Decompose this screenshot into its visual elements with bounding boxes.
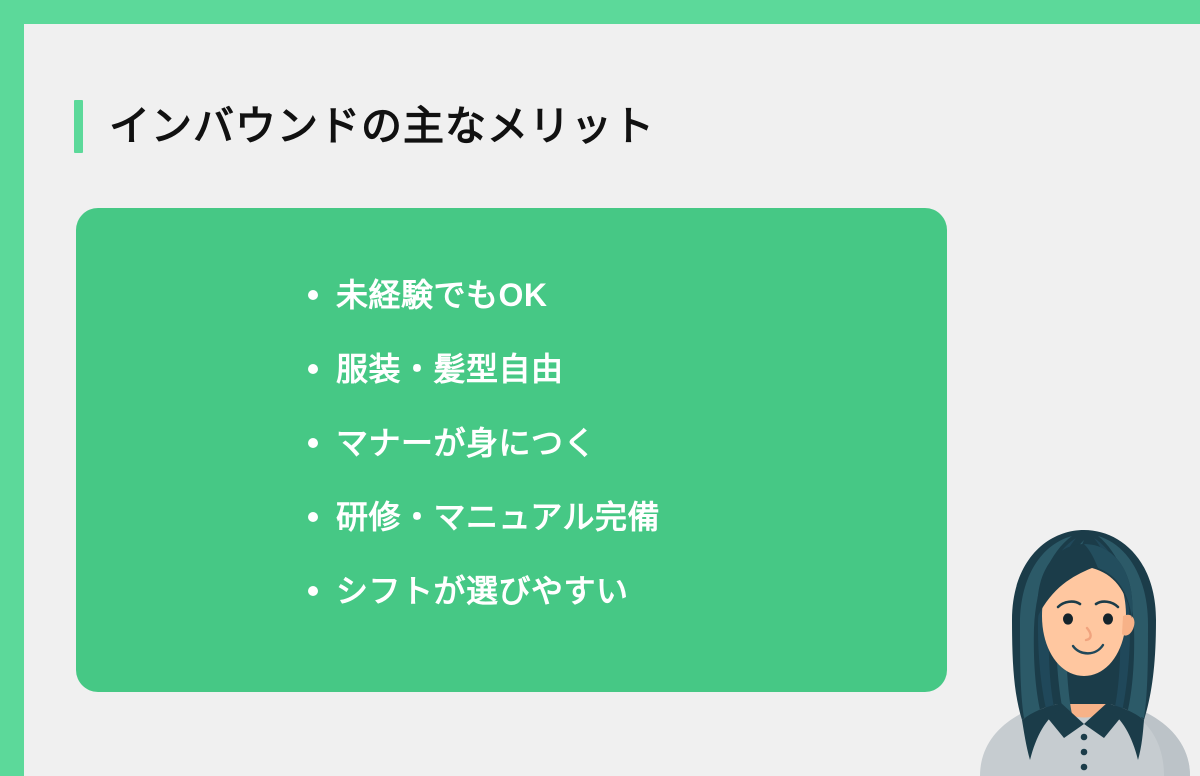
list-item: シフトが選びやすい [308,554,928,628]
benefit-label: 未経験でもOK [336,258,548,332]
benefit-label: シフトが選びやすい [336,554,629,628]
woman-portrait-illustration [968,524,1200,776]
bullet-dot-icon [308,586,318,596]
bullet-dot-icon [308,512,318,522]
list-item: 未経験でもOK [308,258,928,332]
list-item: 研修・マニュアル完備 [308,480,928,554]
title-accent-bar [74,100,83,153]
bullet-dot-icon [308,364,318,374]
page-title: インバウンドの主なメリット [109,106,655,147]
title-row: インバウンドの主なメリット [74,88,655,164]
slide-root: インバウンドの主なメリット 未経験でもOK 服装・髪型自由 マナーが身につく [0,0,1200,776]
bullet-dot-icon [308,290,318,300]
benefits-list: 未経験でもOK 服装・髪型自由 マナーが身につく 研修・マニュアル完備 シフトが… [308,258,928,628]
benefit-label: 研修・マニュアル完備 [336,480,660,554]
benefit-label: マナーが身につく [336,406,596,480]
slide-canvas: インバウンドの主なメリット 未経験でもOK 服装・髪型自由 マナーが身につく [24,24,1200,776]
benefit-label: 服装・髪型自由 [336,332,564,406]
bullet-dot-icon [308,438,318,448]
benefits-card: 未経験でもOK 服装・髪型自由 マナーが身につく 研修・マニュアル完備 シフトが… [76,208,947,692]
list-item: マナーが身につく [308,406,928,480]
list-item: 服装・髪型自由 [308,332,928,406]
